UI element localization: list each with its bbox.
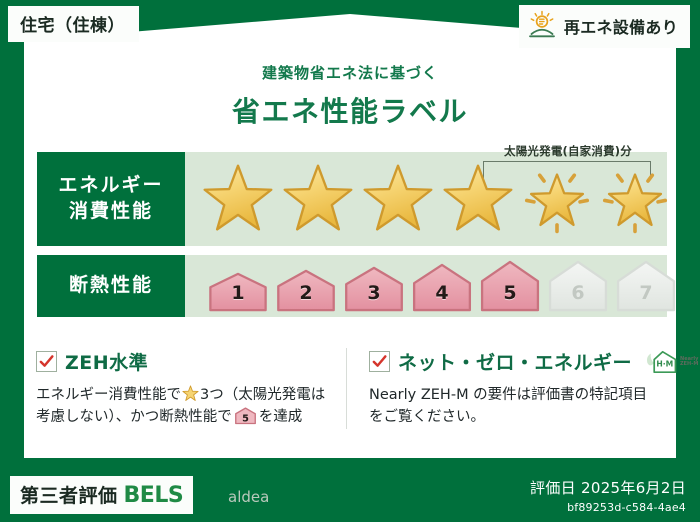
energy-label-line1: エネルギー bbox=[58, 173, 163, 199]
net-zero-energy-text: Nearly ZEH-M の要件は評価書の特記項目をご覧ください。 bbox=[369, 384, 656, 429]
star-icon bbox=[182, 385, 199, 402]
zeh-standard-text-part3: を達成 bbox=[259, 409, 303, 425]
zeh-m-house-logo: H·M Nearly ZEH-M bbox=[644, 349, 698, 375]
title-subtitle: 建築物省エネ法に基づく bbox=[0, 62, 700, 83]
insulation-performance-body: 1 2 3 bbox=[185, 255, 677, 317]
star-6-solar bbox=[599, 163, 671, 235]
zeh-standard-text-part1: エネルギー消費性能で bbox=[36, 387, 181, 403]
note-net-zero-energy-head: ネット・ゼロ・エネルギー H·M Nearly ZEH-M bbox=[369, 348, 656, 375]
insulation-grade-3-number: 3 bbox=[343, 282, 405, 304]
title-main: 省エネ性能ラベル bbox=[0, 90, 700, 130]
star-3 bbox=[361, 162, 435, 236]
insulation-grade-5: 5 bbox=[479, 260, 541, 312]
insulation-performance-row: 断熱性能 bbox=[37, 255, 667, 317]
insulation-grade-4: 4 bbox=[411, 263, 473, 312]
insulation-grade-1-number: 1 bbox=[207, 282, 269, 304]
insulation-grade-6: 6 bbox=[547, 260, 609, 312]
renewable-equipment-label: 再エネ設備あり bbox=[564, 14, 678, 38]
checkmark-icon bbox=[39, 354, 54, 369]
evaluation-info: 評価日 2025年6月2日 bf89253d-c584-4ae4 bbox=[530, 477, 686, 514]
zeh-standard-title: ZEH水準 bbox=[65, 348, 148, 375]
energy-performance-stars-body: 太陽光発電(自家消費)分 bbox=[185, 152, 671, 246]
building-type-badge-label: 住宅（住棟） bbox=[20, 16, 125, 36]
insulation-grade-7: 7 bbox=[615, 260, 677, 312]
star-4 bbox=[441, 162, 515, 236]
star-2 bbox=[281, 162, 355, 236]
insulation-grade-6-number: 6 bbox=[547, 282, 609, 304]
insulation-grade-3: 3 bbox=[343, 266, 405, 312]
watermark: aldea bbox=[228, 488, 269, 506]
energy-performance-label-box: エネルギー 消費性能 bbox=[37, 152, 185, 246]
evaluation-date-label: 評価日 bbox=[530, 479, 576, 497]
insulation-grade-7-number: 7 bbox=[615, 282, 677, 304]
insulation-performance-label-box: 断熱性能 bbox=[37, 255, 185, 317]
star-1 bbox=[201, 162, 275, 236]
zeh-m-logo-sub-line2: ZEH-M bbox=[680, 362, 698, 367]
energy-performance-label: 住宅（住棟） 再エネ設備あり 建築物省エネ法に基づく 省エネ性能ラベル bbox=[0, 0, 700, 522]
bels-logo-text: BELS bbox=[124, 483, 184, 508]
houses-area: 1 2 3 bbox=[185, 255, 677, 317]
note-zeh-standard: ZEH水準 エネルギー消費性能で3つ（太陽光発電は考慮しない）、かつ断熱性能で5… bbox=[36, 348, 346, 429]
notes-section: ZEH水準 エネルギー消費性能で3つ（太陽光発電は考慮しない）、かつ断熱性能で5… bbox=[36, 348, 668, 429]
title-block: 建築物省エネ法に基づく 省エネ性能ラベル bbox=[0, 62, 700, 130]
renewable-equipment-badge: 再エネ設備あり bbox=[519, 5, 690, 48]
insulation-grade-1: 1 bbox=[207, 272, 269, 312]
svg-text:5: 5 bbox=[242, 414, 249, 425]
star-5-solar bbox=[521, 163, 593, 235]
evaluation-date-line: 評価日 2025年6月2日 bbox=[530, 477, 686, 498]
stars-area bbox=[185, 162, 671, 236]
insulation-label: 断熱性能 bbox=[69, 273, 153, 299]
metric-rows: エネルギー 消費性能 太陽光発電(自家消費)分 bbox=[37, 152, 667, 317]
third-party-label: 第三者評価 bbox=[20, 481, 118, 508]
zeh-standard-text: エネルギー消費性能で3つ（太陽光発電は考慮しない）、かつ断熱性能で5を達成 bbox=[36, 384, 334, 429]
inline-house-grade-icon: 5 bbox=[234, 407, 257, 425]
insulation-grade-4-number: 4 bbox=[411, 282, 473, 304]
net-zero-energy-title: ネット・ゼロ・エネルギー bbox=[398, 348, 632, 375]
note-zeh-standard-head: ZEH水準 bbox=[36, 348, 334, 375]
net-zero-energy-checkbox[interactable] bbox=[369, 351, 390, 372]
evaluation-date-value: 2025年6月2日 bbox=[581, 479, 686, 497]
insulation-grade-2-number: 2 bbox=[275, 282, 337, 304]
third-party-evaluation-badge: 第三者評価 BELS bbox=[10, 476, 193, 514]
insulation-grade-2: 2 bbox=[275, 269, 337, 312]
insulation-grade-5-number: 5 bbox=[479, 282, 541, 304]
energy-performance-row: エネルギー 消費性能 太陽光発電(自家消費)分 bbox=[37, 152, 667, 246]
energy-label-line2: 消費性能 bbox=[69, 199, 153, 225]
evaluation-uid: bf89253d-c584-4ae4 bbox=[530, 501, 686, 514]
svg-text:H·M: H·M bbox=[656, 359, 673, 368]
note-net-zero-energy: ネット・ゼロ・エネルギー H·M Nearly ZEH-M Nearly ZEH… bbox=[346, 348, 668, 429]
zeh-standard-checkbox[interactable] bbox=[36, 351, 57, 372]
building-type-badge: 住宅（住棟） bbox=[8, 6, 139, 42]
checkmark-icon bbox=[372, 354, 387, 369]
solar-sun-icon bbox=[527, 10, 557, 42]
solar-bracket-caption: 太陽光発電(自家消費)分 bbox=[475, 143, 661, 159]
